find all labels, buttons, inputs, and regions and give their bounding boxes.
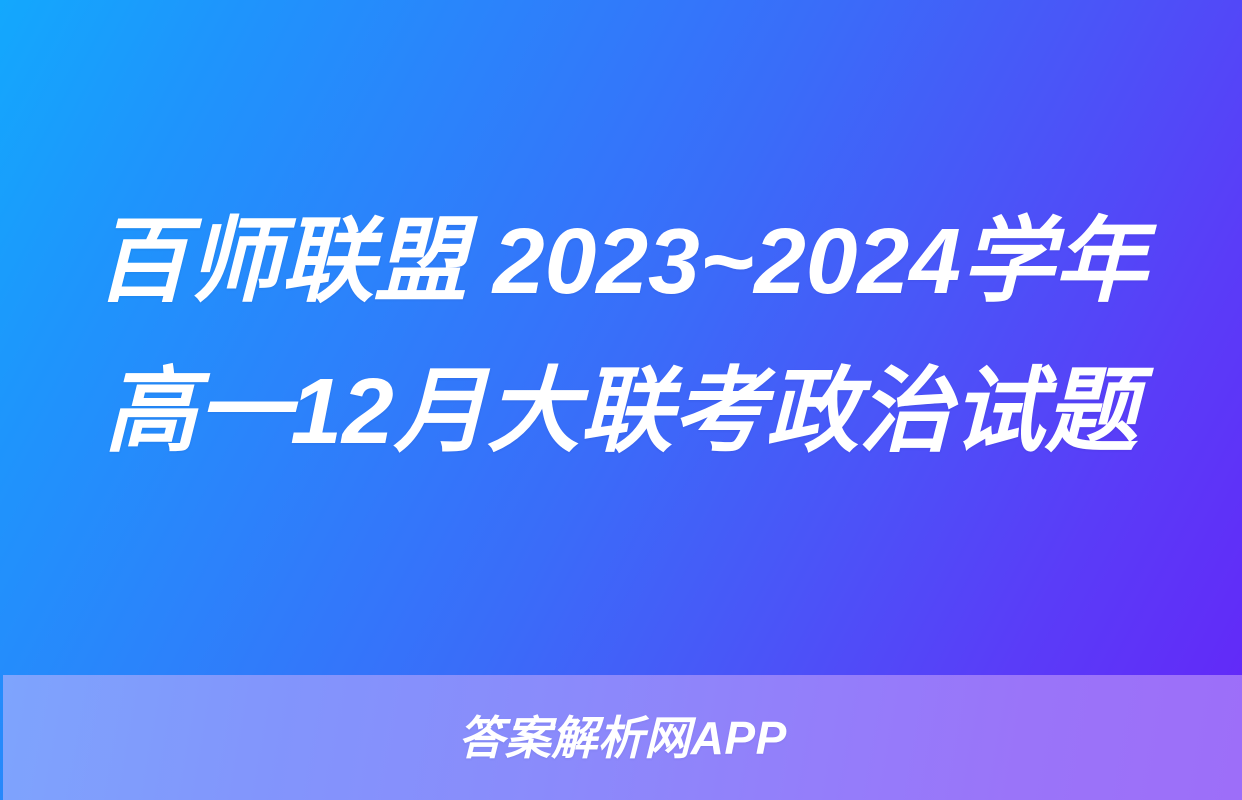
watermark-band: 答案解析网APP [3,675,1242,800]
exam-cover-poster: 百师联盟 2023~2024学年高一12月大联考政治试题 答案解析网APP [0,0,1242,800]
watermark-text: 答案解析网APP [458,715,787,761]
page-title: 百师联盟 2023~2024学年高一12月大联考政治试题 [0,186,1242,486]
